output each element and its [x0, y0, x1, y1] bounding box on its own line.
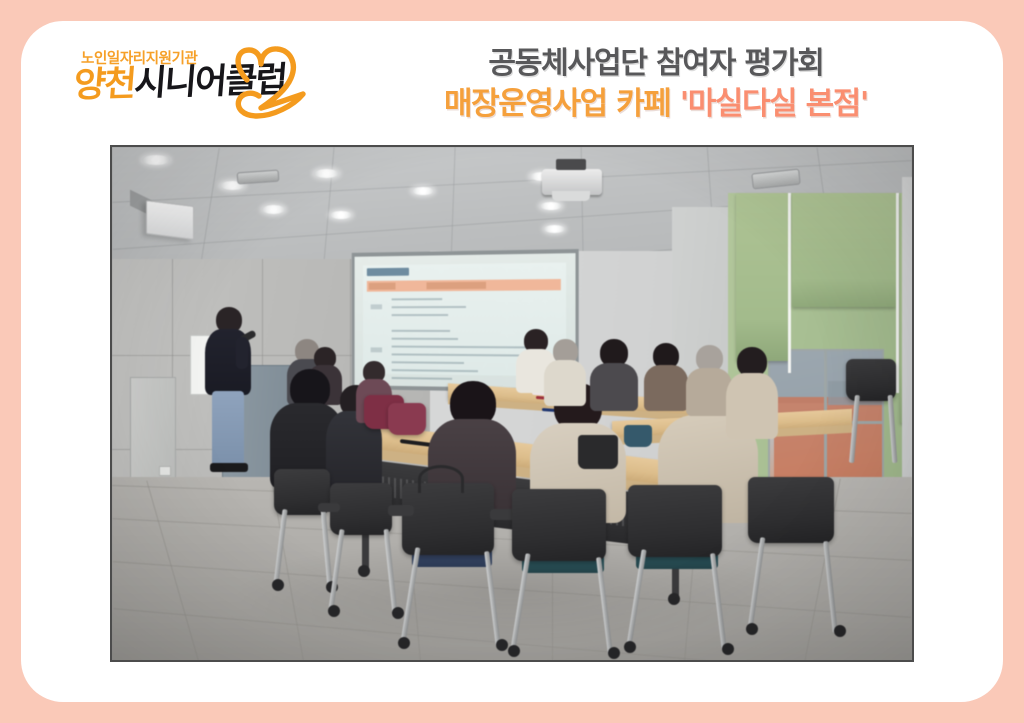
chair: [748, 477, 834, 543]
logo-wordmark-black: 시니어클럽: [133, 60, 288, 104]
handbag: [624, 425, 652, 447]
chair-caster: [608, 647, 620, 659]
presenter-legs: [212, 391, 244, 465]
chair-caster: [496, 639, 508, 651]
chair-armrest: [388, 505, 414, 516]
photo-scene: [112, 147, 912, 660]
participant-torso: [644, 365, 688, 411]
slide-table-header: [367, 279, 561, 292]
logo-wordmark-orange: 양천: [72, 64, 136, 106]
title-line-2: 매장운영사업 카페 '마실다실 본점': [351, 85, 961, 124]
chair-caster: [398, 637, 410, 649]
presenter-shoes: [210, 463, 248, 472]
chair-caster: [508, 645, 520, 657]
chair-caster: [624, 641, 636, 653]
ceiling-downlight: [540, 202, 562, 210]
presenter-arm: [236, 337, 248, 369]
slide-title-tag: [367, 268, 409, 276]
ceiling-downlight: [142, 155, 170, 165]
title-line-1: 공동체사업단 참여자 평가회: [351, 45, 961, 83]
window-blind: [736, 193, 788, 361]
ceiling-projector: [542, 169, 602, 195]
window-blind: [792, 193, 896, 307]
poster-header: 노인일자리지원기관 양천시니어클럽 공동체사업단 참여자 평가회 매장운영사업 …: [21, 21, 1003, 145]
participant: [726, 347, 778, 437]
chair: [628, 485, 722, 557]
participant-torso: [726, 373, 778, 439]
title-line-2-store: '마실다실 본점': [680, 86, 868, 122]
participant: [644, 343, 688, 409]
presenter: [200, 307, 262, 487]
title-block: 공동체사업단 참여자 평가회 매장운영사업 카페 '마실다실 본점': [351, 45, 961, 123]
ceiling-downlight: [412, 187, 434, 195]
poster-root: 노인일자리지원기관 양천시니어클럽 공동체사업단 참여자 평가회 매장운영사업 …: [0, 0, 1024, 723]
chair: [388, 403, 426, 435]
wall-cabinet: [130, 377, 176, 489]
chair-caster: [746, 623, 758, 635]
title-line-2-program: 매장운영사업 카페: [444, 86, 680, 122]
chair-armrest: [318, 503, 340, 512]
ceiling-downlight: [314, 169, 339, 178]
ceiling-downlight: [544, 225, 565, 233]
chair-caster: [328, 605, 340, 617]
participant: [590, 339, 638, 409]
handbag: [578, 435, 618, 469]
chair: [512, 489, 606, 561]
organization-logo: 노인일자리지원기관 양천시니어클럽: [76, 47, 336, 129]
ceiling-downlight: [330, 211, 352, 219]
chair-caster: [272, 579, 284, 591]
chair-caster: [392, 607, 404, 619]
chair-caster: [834, 625, 846, 637]
handbag-handle: [418, 465, 464, 493]
participant-torso: [590, 363, 638, 411]
table-caster: [668, 593, 680, 605]
participant: [544, 339, 586, 403]
chair-caster: [722, 643, 734, 655]
participant-torso: [544, 360, 586, 406]
poster-card: 노인일자리지원기관 양천시니어클럽 공동체사업단 참여자 평가회 매장운영사업 …: [21, 21, 1003, 702]
wall-speaker: [146, 200, 194, 240]
logo-wordmark: 양천시니어클럽: [72, 63, 287, 104]
ceiling-downlight: [262, 205, 285, 214]
event-photo: [110, 145, 914, 662]
table-caster: [358, 565, 370, 577]
chair: [402, 483, 494, 555]
